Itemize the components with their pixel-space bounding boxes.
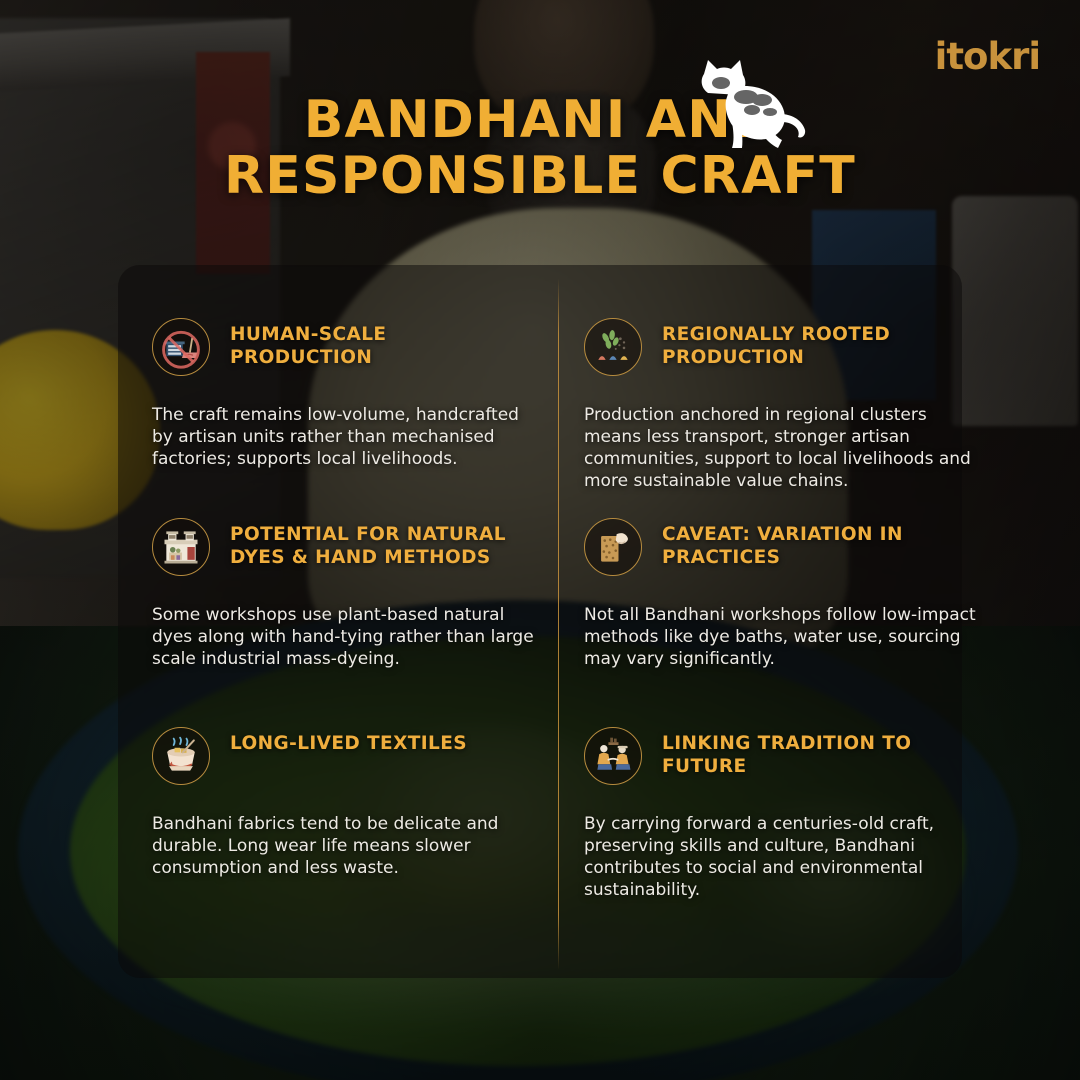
card-potential-for-natural-dyes: POTENTIAL FOR NATURAL DYES & HAND METHOD… (152, 518, 540, 670)
page-title-line-2: RESPONSIBLE CRAFT (0, 148, 1080, 204)
brand-logo-text: itokri (935, 38, 1040, 75)
card-long-lived-textiles: LONG-LIVED TEXTILES Bandhani fabrics ten… (152, 727, 540, 879)
cat-mark-icon (690, 52, 808, 152)
card-header: REGIONALLY ROOTED PRODUCTION (584, 318, 984, 376)
card-body: Some workshops use plant-based natural d… (152, 604, 540, 670)
card-title: LINKING TRADITION TO FUTURE (662, 727, 982, 778)
seedling-soil-icon (584, 318, 642, 376)
card-body: By carrying forward a centuries-old craf… (584, 813, 984, 901)
card-header: CAVEAT: VARIATION IN PRACTICES (584, 518, 984, 576)
hand-holding-fabric-icon (584, 518, 642, 576)
card-body: Bandhani fabrics tend to be delicate and… (152, 813, 540, 879)
steaming-dye-pot-icon (152, 727, 210, 785)
brand-logo[interactable]: itokri (935, 38, 1040, 75)
card-header: HUMAN-SCALE PRODUCTION (152, 318, 540, 376)
card-regionally-rooted-production: REGIONALLY ROOTED PRODUCTION Production … (584, 318, 984, 492)
column-divider (558, 278, 559, 970)
card-body: The craft remains low-volume, handcrafte… (152, 404, 540, 470)
card-human-scale-production: HUMAN-SCALE PRODUCTION The craft remains… (152, 318, 540, 470)
card-title: HUMAN-SCALE PRODUCTION (230, 318, 530, 369)
card-title: REGIONALLY ROOTED PRODUCTION (662, 318, 982, 369)
card-linking-tradition-to-future: LINKING TRADITION TO FUTURE By carrying … (584, 727, 984, 901)
no-factory-icon (152, 318, 210, 376)
two-artisans-icon (584, 727, 642, 785)
card-header: POTENTIAL FOR NATURAL DYES & HAND METHOD… (152, 518, 540, 576)
card-title: CAVEAT: VARIATION IN PRACTICES (662, 518, 982, 569)
card-header: LONG-LIVED TEXTILES (152, 727, 540, 785)
card-title: LONG-LIVED TEXTILES (230, 727, 530, 756)
card-body: Not all Bandhani workshops follow low-im… (584, 604, 984, 670)
card-header: LINKING TRADITION TO FUTURE (584, 727, 984, 785)
card-title: POTENTIAL FOR NATURAL DYES & HAND METHOD… (230, 518, 530, 569)
workshop-building-icon (152, 518, 210, 576)
page-title: BANDHANI AND RESPONSIBLE CRAFT (0, 92, 1080, 204)
page-title-line-1: BANDHANI AND (0, 92, 1080, 148)
card-caveat-variation-in-practices: CAVEAT: VARIATION IN PRACTICES Not all B… (584, 518, 984, 670)
card-body: Production anchored in regional clusters… (584, 404, 984, 492)
